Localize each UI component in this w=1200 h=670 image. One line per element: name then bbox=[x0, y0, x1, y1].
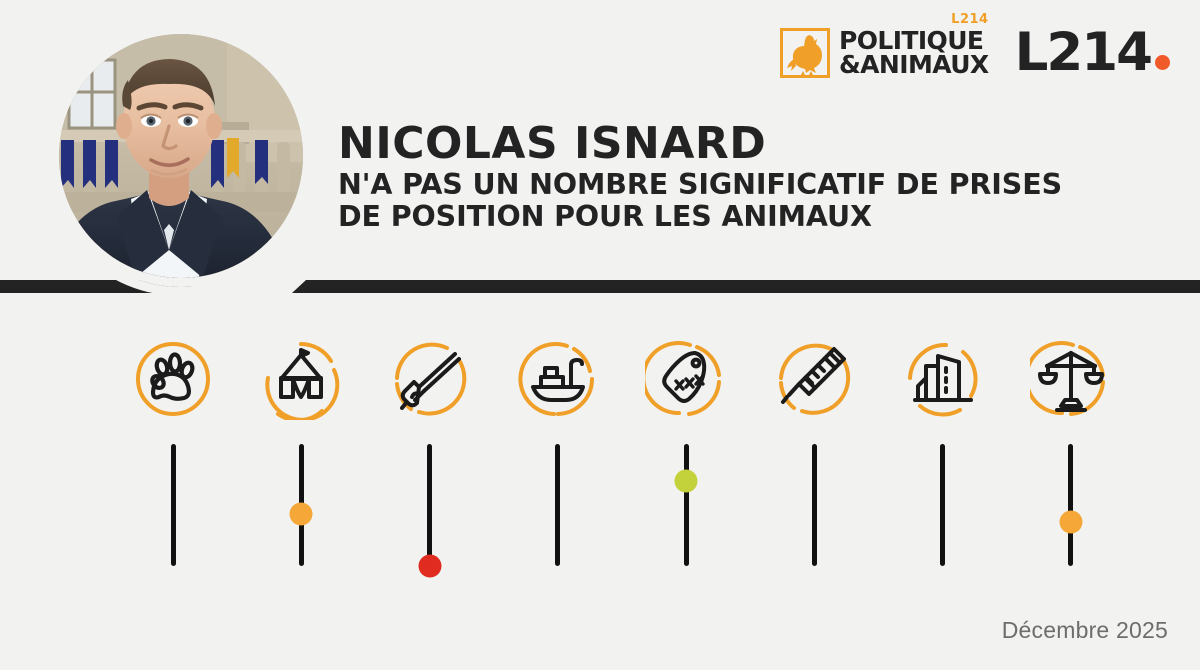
pa-line-2: &ANIMAUX bbox=[839, 53, 989, 77]
scale-bar bbox=[171, 444, 176, 566]
page-title: NICOLAS ISNARD bbox=[338, 122, 1168, 166]
scale-dot[interactable] bbox=[1059, 511, 1082, 534]
pa-superscript-l214: L214 bbox=[951, 14, 988, 26]
l214-dot-icon bbox=[1155, 55, 1170, 70]
cattle-ear-tag-icon bbox=[645, 338, 727, 420]
title-block: NICOLAS ISNARD N'A PAS UN NOMBRE SIGNIFI… bbox=[338, 122, 1168, 233]
scale-animaux-en-ville[interactable] bbox=[932, 444, 954, 566]
criterion-animaux-en-ville[interactable] bbox=[902, 338, 984, 566]
infographic-card: L214 POLITIQUE &ANIMAUX L214 NICOLAS ISN… bbox=[0, 0, 1200, 670]
criterion-statut-juridique[interactable] bbox=[1030, 338, 1112, 566]
avatar-photo bbox=[59, 34, 303, 278]
politique-animaux-wordmark: L214 POLITIQUE &ANIMAUX bbox=[839, 29, 989, 76]
criterion-peche[interactable] bbox=[517, 338, 599, 566]
syringe-icon bbox=[773, 338, 855, 420]
paw-print-icon bbox=[132, 338, 214, 420]
criterion-experimentation-animale[interactable] bbox=[773, 338, 855, 566]
statement-line-1: N'A PAS UN NOMBRE SIGNIFICATIF DE PRISES bbox=[338, 169, 1168, 201]
scale-animaux-de-compagnie[interactable] bbox=[162, 444, 184, 566]
fishing-boat-icon bbox=[517, 338, 599, 420]
politique-animaux-logo[interactable]: L214 POLITIQUE &ANIMAUX bbox=[780, 28, 989, 78]
criterion-elevage[interactable] bbox=[645, 338, 727, 566]
criterion-animaux-de-compagnie[interactable] bbox=[132, 338, 214, 566]
scale-bar bbox=[427, 444, 432, 566]
scale-bar bbox=[940, 444, 945, 566]
statement-line-2: DE POSITION POUR LES ANIMAUX bbox=[338, 201, 1168, 233]
scale-chasse[interactable] bbox=[419, 444, 441, 566]
scale-bar bbox=[812, 444, 817, 566]
scale-peche[interactable] bbox=[547, 444, 569, 566]
scale-bar bbox=[684, 444, 689, 566]
l214-wordmark: L214 bbox=[1015, 22, 1151, 83]
scale-bar bbox=[1068, 444, 1073, 566]
scales-of-justice-icon bbox=[1030, 338, 1112, 420]
scale-animaux-de-spectacle[interactable] bbox=[290, 444, 312, 566]
footer-date: Décembre 2025 bbox=[1002, 617, 1168, 644]
scale-dot[interactable] bbox=[290, 502, 313, 525]
scale-bar bbox=[555, 444, 560, 566]
criterion-animaux-de-spectacle[interactable] bbox=[260, 338, 342, 566]
criteria-row bbox=[132, 338, 1112, 578]
hunting-rifle-icon bbox=[389, 338, 471, 420]
circus-tent-icon bbox=[260, 338, 342, 420]
rooster-badge-icon bbox=[780, 28, 830, 78]
criterion-chasse[interactable] bbox=[389, 338, 471, 566]
logo-group: L214 POLITIQUE &ANIMAUX L214 bbox=[780, 22, 1170, 83]
l214-logo[interactable]: L214 bbox=[1015, 22, 1170, 83]
scale-elevage[interactable] bbox=[675, 444, 697, 566]
scale-dot[interactable] bbox=[675, 469, 698, 492]
scale-experimentation-animale[interactable] bbox=[803, 444, 825, 566]
pa-line-1: POLITIQUE bbox=[839, 29, 989, 53]
avatar bbox=[50, 25, 312, 287]
scale-dot[interactable] bbox=[418, 555, 441, 578]
city-buildings-icon bbox=[902, 338, 984, 420]
scale-statut-juridique[interactable] bbox=[1060, 444, 1082, 566]
